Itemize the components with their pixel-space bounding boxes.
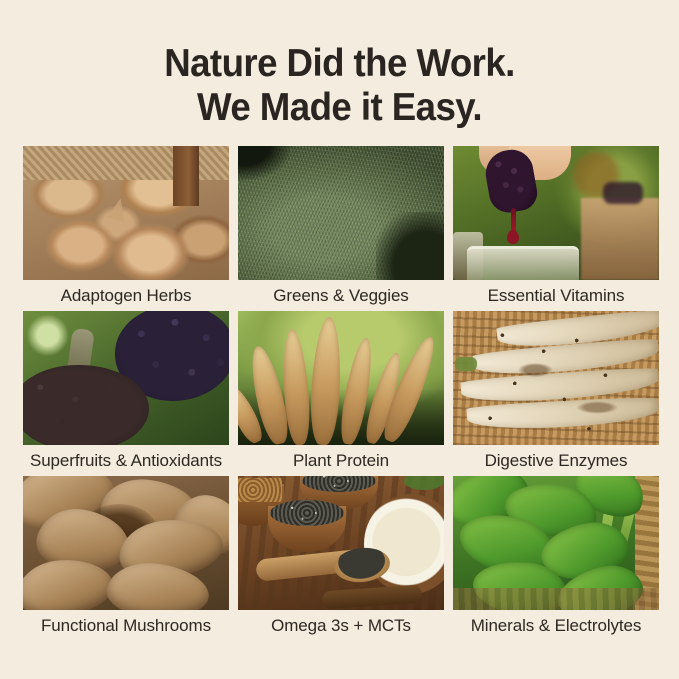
grid-item-label: Superfruits & Antioxidants	[23, 445, 229, 476]
acai-berry-clusters-on-palm-photo	[23, 311, 229, 445]
grid-item-superfruits-antioxidants[interactable]: Superfruits & Antioxidants	[23, 311, 229, 476]
ingredient-grid: Adaptogen Herbs Greens & Veggies Essenti…	[23, 129, 656, 641]
maitake-mushroom-fronds-photo	[23, 476, 229, 610]
headline-line-2: We Made it Easy.	[20, 86, 658, 130]
grid-item-label: Plant Protein	[238, 445, 444, 476]
grid-item-label: Digestive Enzymes	[453, 445, 659, 476]
page-title: Nature Did the Work. We Made it Easy.	[20, 0, 658, 129]
grid-item-functional-mushrooms[interactable]: Functional Mushrooms	[23, 476, 229, 641]
adaptogen-roots-in-burlap-sack-photo	[23, 146, 229, 280]
grid-item-label: Greens & Veggies	[238, 280, 444, 311]
grid-item-plant-protein[interactable]: Plant Protein	[238, 311, 444, 476]
grid-item-label: Omega 3s + MCTs	[238, 610, 444, 641]
grid-item-digestive-enzymes[interactable]: Digestive Enzymes	[453, 311, 659, 476]
chia-seeds-bowls-and-coconut-photo	[238, 476, 444, 610]
grid-item-greens-veggies[interactable]: Greens & Veggies	[238, 146, 444, 311]
amaranth-seed-heads-photo	[238, 311, 444, 445]
grid-item-essential-vitamins[interactable]: Essential Vitamins	[453, 146, 659, 311]
grid-item-label: Minerals & Electrolytes	[453, 610, 659, 641]
grid-item-minerals-electrolytes[interactable]: Minerals & Electrolytes	[453, 476, 659, 641]
green-superfood-powder-photo	[238, 146, 444, 280]
ingredient-benefits-poster: Nature Did the Work. We Made it Easy. Ad…	[0, 0, 679, 679]
grid-item-adaptogen-herbs[interactable]: Adaptogen Herbs	[23, 146, 229, 311]
grid-item-label: Adaptogen Herbs	[23, 280, 229, 311]
grid-item-omega-3s-mcts[interactable]: Omega 3s + MCTs	[238, 476, 444, 641]
white-daikon-roots-in-basket-photo	[453, 311, 659, 445]
hand-squeezing-berry-juice-into-glass-photo	[453, 146, 659, 280]
headline-line-1: Nature Did the Work.	[20, 42, 658, 86]
grid-item-label: Essential Vitamins	[453, 280, 659, 311]
grid-item-label: Functional Mushrooms	[23, 610, 229, 641]
fresh-spinach-leaves-in-basket-photo	[453, 476, 659, 610]
